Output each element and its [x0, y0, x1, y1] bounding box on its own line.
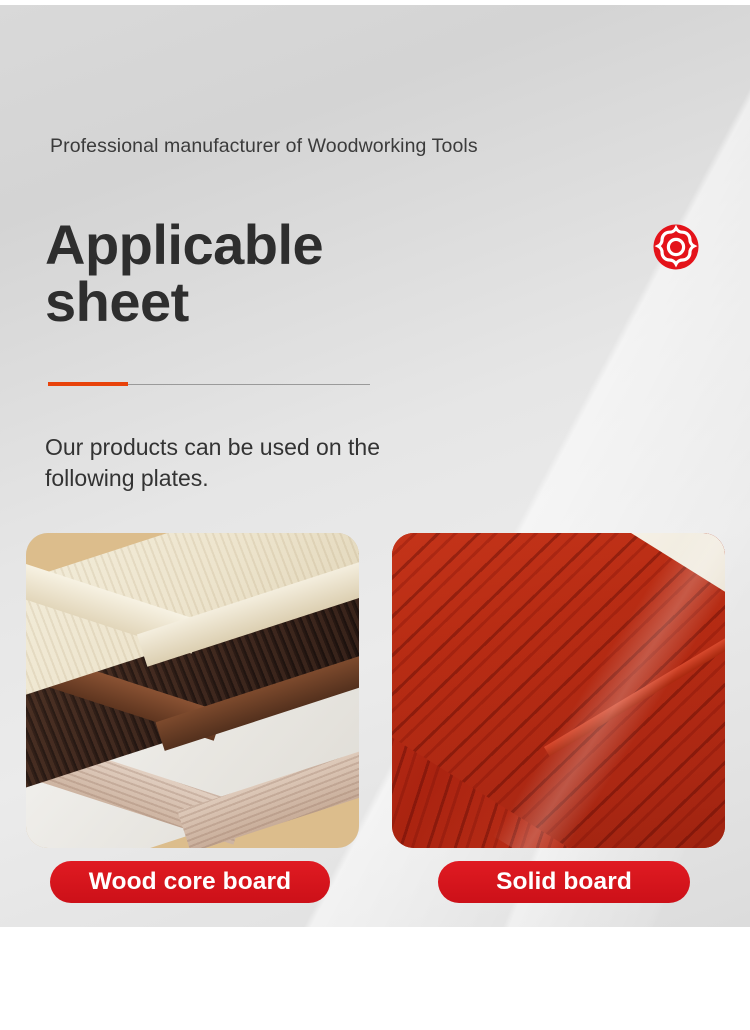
product-card-list — [0, 533, 750, 848]
product-card-wood-core-board[interactable] — [26, 533, 359, 848]
label-solid-board[interactable]: Solid board — [438, 861, 690, 903]
applicable-sheet-page: Professional manufacturer of Woodworking… — [0, 0, 750, 927]
solid-board-photo — [392, 533, 725, 848]
divider-line — [128, 384, 370, 385]
page-subtitle-line-2: following plates. — [45, 463, 485, 494]
page-title: Applicable sheet — [45, 216, 465, 330]
label-wood-core-board[interactable]: Wood core board — [50, 861, 330, 903]
product-card-solid-board[interactable] — [392, 533, 725, 848]
gear-emblem-icon — [653, 224, 699, 270]
eyebrow-text: Professional manufacturer of Woodworking… — [50, 135, 478, 158]
page-title-line-1: Applicable — [45, 213, 323, 276]
wood-core-board-photo — [26, 533, 359, 848]
page-subtitle: Our products can be used on the followin… — [45, 432, 485, 494]
divider-accent — [48, 382, 128, 386]
page-title-line-2: sheet — [45, 273, 465, 330]
title-divider — [48, 382, 370, 386]
page-subtitle-line-1: Our products can be used on the — [45, 434, 380, 460]
